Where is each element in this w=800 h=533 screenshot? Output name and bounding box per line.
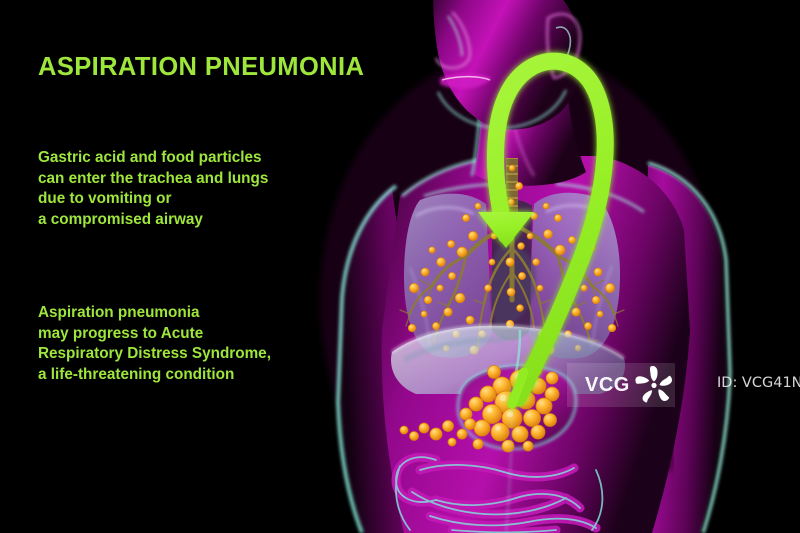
- watermark: VCG ID: VCG41N2216288828: [567, 363, 676, 407]
- watermark-id: ID: VCG41N2216288828: [717, 375, 800, 391]
- vcg-wordmark: VCG: [585, 363, 630, 407]
- caption-cause: Gastric acid and food particles can ente…: [38, 148, 268, 230]
- page-title: ASPIRATION PNEUMONIA: [38, 53, 364, 82]
- vcg-flower-icon: [632, 363, 676, 407]
- illustration-canvas: ASPIRATION PNEUMONIA Gastric acid and fo…: [0, 0, 800, 533]
- caption-progression: Aspiration pneumonia may progress to Acu…: [38, 303, 271, 385]
